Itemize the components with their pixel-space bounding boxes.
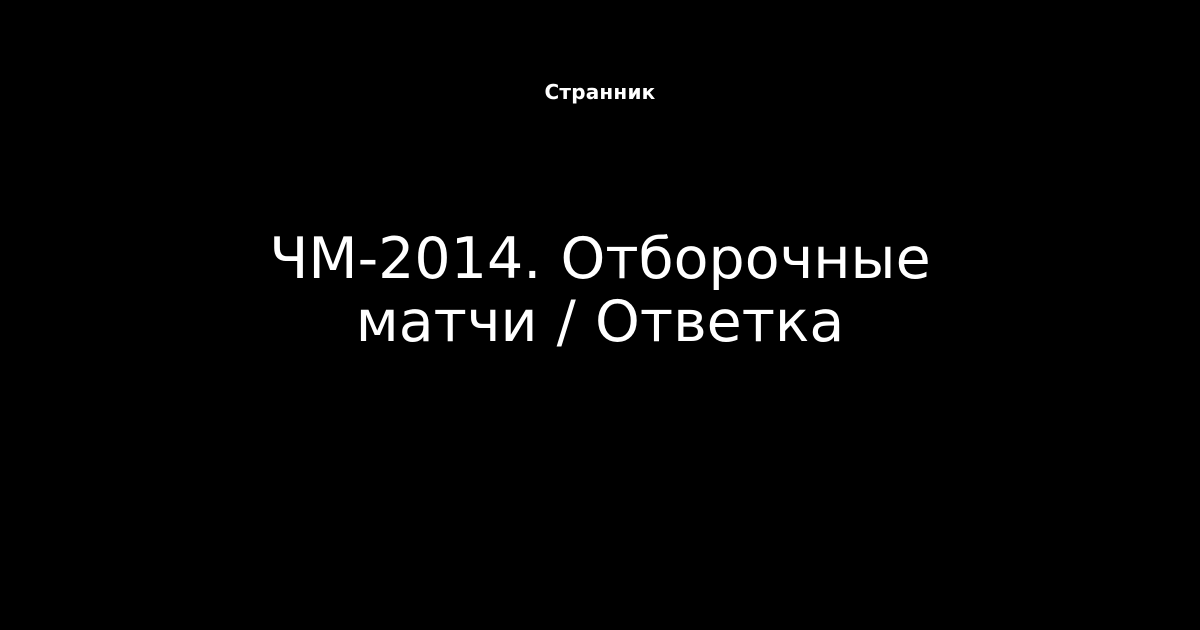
social-preview-card: Странник ЧМ-2014. Отборочные матчи / Отв… [0, 0, 1200, 630]
site-name: Странник [0, 78, 1200, 106]
page-title: ЧМ-2014. Отборочные матчи / Ответка [185, 228, 1015, 354]
title-container: ЧМ-2014. Отборочные матчи / Ответка [185, 228, 1015, 354]
